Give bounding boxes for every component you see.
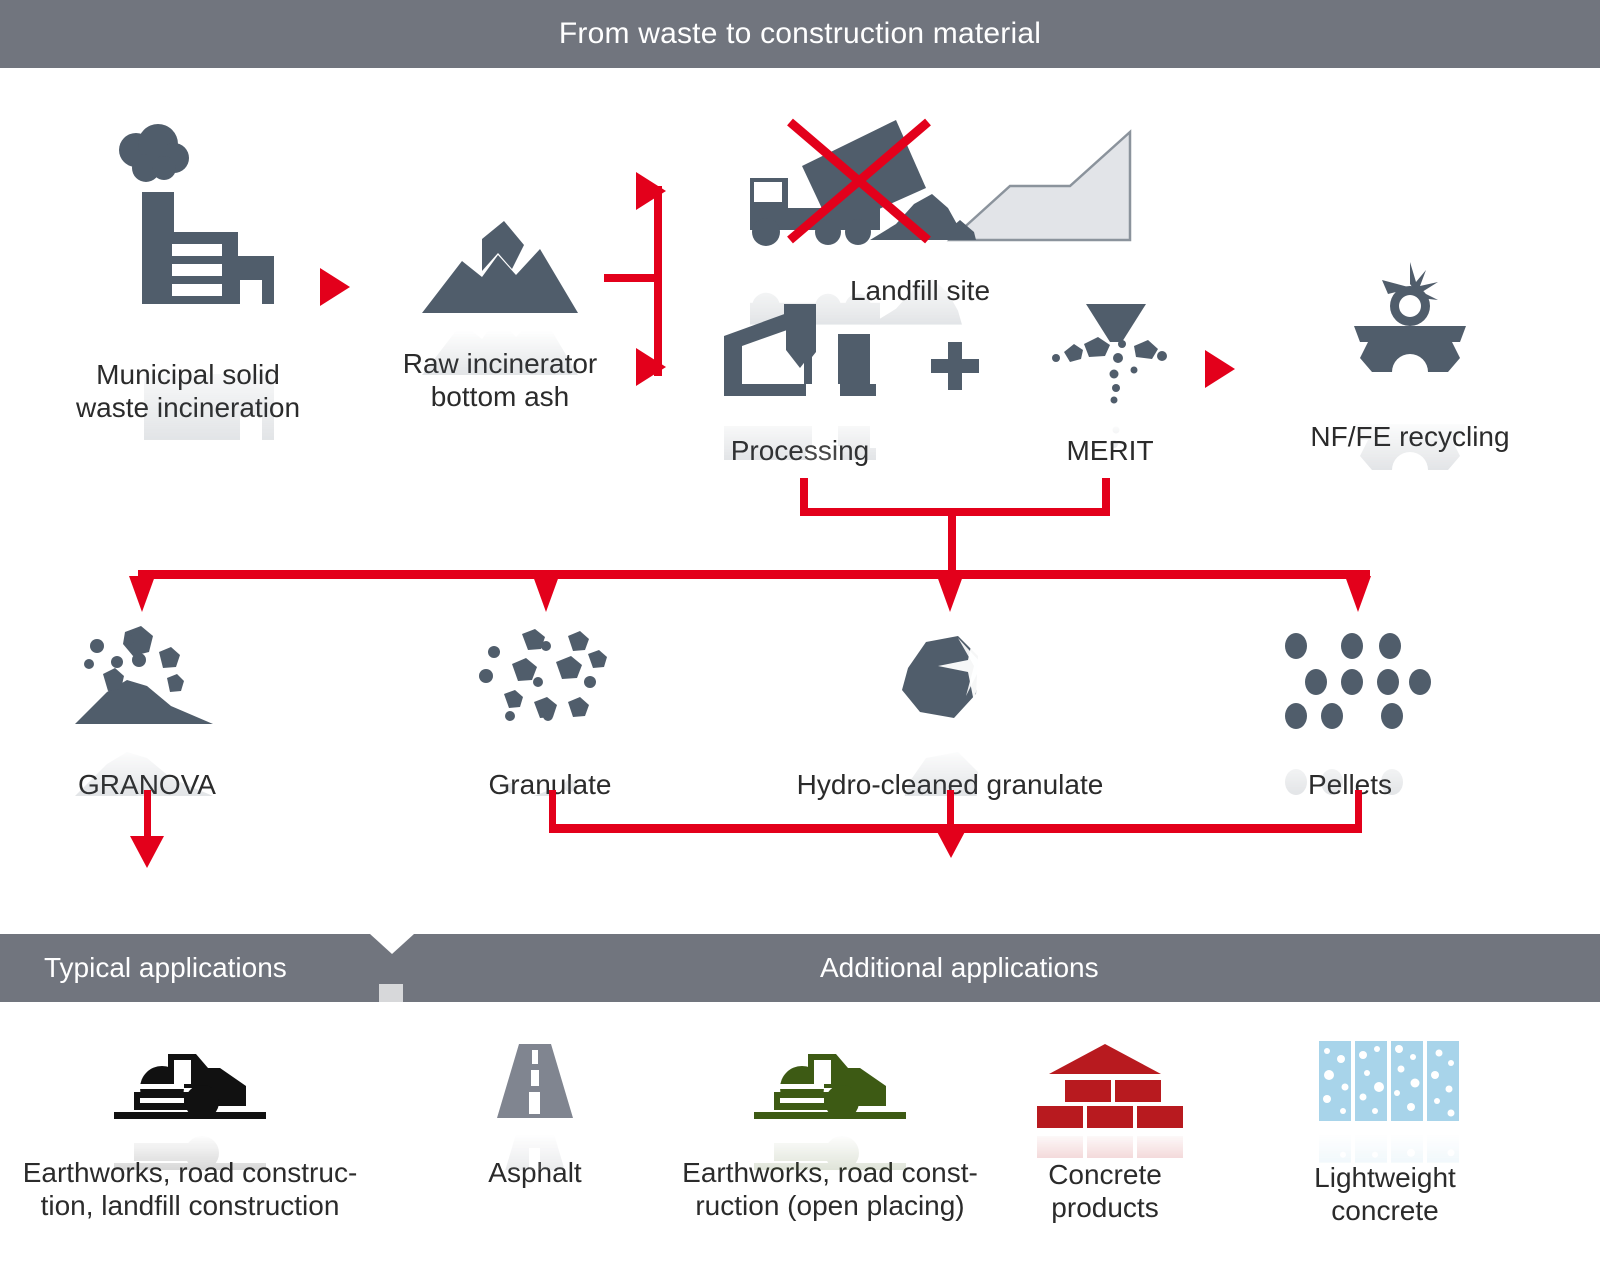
node-product-granulate: Granulate [425, 620, 675, 801]
node-label: bottom ash [370, 380, 630, 413]
node-application-concrete-products: Concrete products [990, 1042, 1220, 1224]
plus-sign [910, 330, 1000, 400]
node-label: Municipal solid [28, 358, 348, 391]
node-label: Raw incinerator [370, 347, 630, 380]
aerated-blocks-icon [1305, 1035, 1465, 1125]
node-label: Earthworks, road const- [640, 1156, 1020, 1189]
arrow-msw-to-ash [320, 268, 350, 306]
bar-notch-bottom [379, 984, 403, 1002]
node-label: Processing [690, 434, 910, 467]
node-label: Pellets [1225, 768, 1475, 801]
node-landfill-site: Landfill site [710, 112, 1130, 307]
node-label: NF/FE recycling [1250, 420, 1570, 453]
hydro-cleaned-stone-icon [870, 620, 1030, 730]
node-label: ruction (open placing) [640, 1189, 1020, 1222]
asphalt-road-icon [475, 1042, 595, 1122]
header-bar: From waste to construction material [0, 0, 1600, 68]
node-nf-fe-recycling: NF/FE recycling [1250, 260, 1570, 453]
node-label: tion, landfill construction [0, 1189, 380, 1222]
node-label: MERIT [1000, 434, 1220, 467]
additional-applications-label: Additional applications [820, 952, 1099, 984]
node-application-earthworks-open: Earthworks, road const- ruction (open pl… [640, 1042, 1020, 1222]
ash-heap-icon [420, 215, 580, 315]
factory-smokestack-icon [88, 120, 288, 320]
node-label: Concrete [990, 1158, 1220, 1191]
reflection [1305, 1125, 1465, 1163]
processing-plant-icon [720, 300, 880, 400]
granova-heap-icon [67, 620, 227, 730]
node-processing: Processing [690, 300, 910, 467]
merit-separator-icon [1030, 300, 1190, 410]
node-application-asphalt: Asphalt [420, 1042, 650, 1189]
node-product-hydro-cleaned: Hydro-cleaned granulate [770, 620, 1130, 801]
node-merit: MERIT [1000, 300, 1220, 467]
infographic-canvas: From waste to construction material [0, 0, 1600, 1282]
node-label: products [990, 1191, 1220, 1224]
granulate-particles-icon [470, 620, 630, 730]
node-raw-bottom-ash: Raw incinerator bottom ash [370, 215, 630, 413]
road-roller-green-icon [740, 1042, 920, 1122]
dump-truck-landfill-icon [710, 112, 1130, 252]
node-label: waste incineration [28, 391, 348, 424]
brick-wall-icon [1025, 1042, 1185, 1122]
node-label: concrete [1255, 1194, 1515, 1227]
applications-bar: Typical applications Additional applicat… [0, 934, 1600, 1002]
node-label: Asphalt [420, 1156, 650, 1189]
node-label: Earthworks, road construc- [0, 1156, 380, 1189]
road-roller-black-icon [100, 1042, 280, 1122]
page-title: From waste to construction material [559, 17, 1041, 51]
typical-applications-label: Typical applications [44, 952, 287, 984]
node-municipal-solid-waste: Municipal solid waste incineration [28, 120, 348, 424]
node-application-earthworks: Earthworks, road construc- tion, landfil… [0, 1042, 380, 1222]
node-product-pellets: Pellets [1225, 620, 1475, 801]
anvil-metal-icon [1320, 260, 1500, 400]
node-label: Lightweight [1255, 1161, 1515, 1194]
node-application-lightweight-concrete: Lightweight concrete [1255, 1035, 1515, 1227]
pellets-dots-icon [1270, 620, 1430, 730]
node-product-granova: GRANOVA [22, 620, 272, 801]
arrow-merit-to-recycling [1205, 350, 1235, 388]
